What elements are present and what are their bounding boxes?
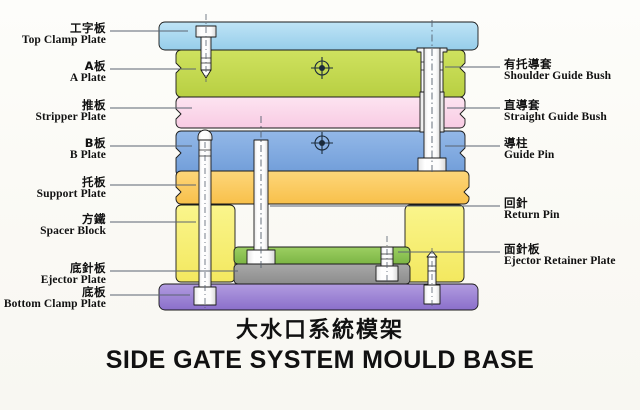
label-en: Stripper Plate [0, 111, 106, 123]
label-en: Support Plate [0, 188, 106, 200]
label-cn: 導柱 [504, 137, 640, 149]
figure-root: 工字板 Top Clamp Plate A板 A Plate 推板 Stripp… [0, 0, 640, 410]
label-cn: 底板 [0, 286, 106, 298]
label-en: Guide Pin [504, 149, 640, 161]
label-cn: 直導套 [504, 99, 640, 111]
label-guide-pin: 導柱 Guide Pin [504, 137, 640, 161]
label-cn: 推板 [0, 99, 106, 111]
label-en: Top Clamp Plate [0, 34, 106, 46]
label-cn: 回針 [504, 197, 640, 209]
figure-title: 大水口系統模架 SIDE GATE SYSTEM MOULD BASE [0, 312, 640, 375]
label-spacer-block: 方鐵 Spacer Block [0, 213, 106, 237]
support-plate [176, 171, 469, 204]
label-cn: 方鐵 [0, 213, 106, 225]
label-bottom-clamp-plate: 底板 Bottom Clamp Plate [0, 286, 106, 310]
label-cn: 有托導套 [504, 58, 640, 70]
label-stripper-plate: 推板 Stripper Plate [0, 99, 106, 123]
label-en: B Plate [0, 149, 106, 161]
label-cn: A板 [0, 60, 106, 72]
label-cn: B板 [0, 137, 106, 149]
label-straight-guide-bush: 直導套 Straight Guide Bush [504, 99, 640, 123]
label-ejector-retainer-plate: 面針板 Ejector Retainer Plate [504, 243, 640, 267]
title-english: SIDE GATE SYSTEM MOULD BASE [0, 346, 640, 375]
label-en: Bottom Clamp Plate [0, 298, 106, 310]
label-top-clamp-plate: 工字板 Top Clamp Plate [0, 22, 106, 46]
label-en: A Plate [0, 72, 106, 84]
ejector-rod-left-head [198, 130, 212, 140]
label-a-plate: A板 A Plate [0, 60, 106, 84]
label-cn: 托板 [0, 176, 106, 188]
label-support-plate: 托板 Support Plate [0, 176, 106, 200]
label-cn: 底針板 [0, 262, 106, 274]
label-ejector-plate: 底針板 Ejector Plate [0, 262, 106, 286]
label-en: Ejector Retainer Plate [504, 255, 640, 267]
label-en: Shoulder Guide Bush [504, 70, 640, 82]
label-shoulder-guide-bush: 有托導套 Shoulder Guide Bush [504, 58, 640, 82]
title-chinese: 大水口系統模架 [0, 312, 640, 344]
label-en: Straight Guide Bush [504, 111, 640, 123]
label-en: Return Pin [504, 209, 640, 221]
label-return-pin: 回針 Return Pin [504, 197, 640, 221]
label-b-plate: B板 B Plate [0, 137, 106, 161]
label-cn: 面針板 [504, 243, 640, 255]
label-en: Spacer Block [0, 225, 106, 237]
label-cn: 工字板 [0, 22, 106, 34]
